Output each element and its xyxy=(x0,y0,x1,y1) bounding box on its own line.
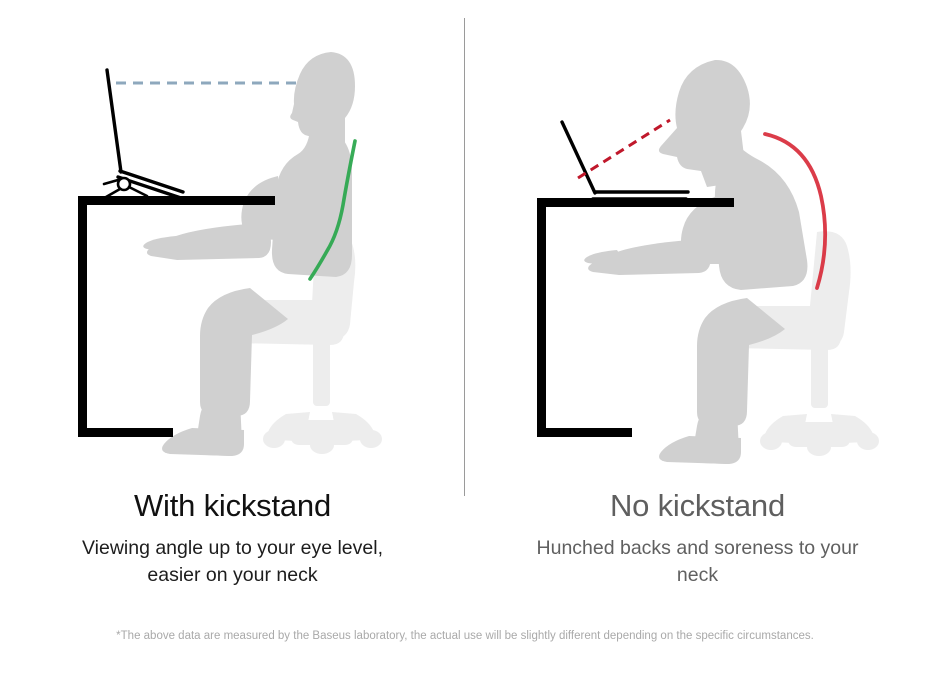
caption-subtitle-with-kickstand: Viewing angle up to your eye level, easi… xyxy=(68,535,398,589)
laptop-flat-on-desk xyxy=(562,122,688,199)
panel-divider xyxy=(464,18,465,496)
caption-title-with-kickstand: With kickstand xyxy=(0,486,465,526)
caption-with-kickstand: With kickstand Viewing angle up to your … xyxy=(0,486,465,589)
kickstand-mechanism xyxy=(104,178,147,197)
downward-sight-line xyxy=(578,120,670,178)
illustration-no-kickstand xyxy=(465,0,930,470)
panel-no-kickstand: No kickstand Hunched backs and soreness … xyxy=(465,0,930,699)
footnote-disclaimer: *The above data are measured by the Base… xyxy=(0,628,930,644)
ergonomics-comparison-infographic: With kickstand Viewing angle up to your … xyxy=(0,0,930,699)
caption-subtitle-no-kickstand: Hunched backs and soreness to your neck xyxy=(533,535,863,589)
person-silhouette-hunched xyxy=(584,60,807,464)
caption-title-no-kickstand: No kickstand xyxy=(465,486,930,526)
caption-no-kickstand: No kickstand Hunched backs and soreness … xyxy=(465,486,930,589)
panel-with-kickstand: With kickstand Viewing angle up to your … xyxy=(0,0,465,699)
illustration-with-kickstand xyxy=(0,0,465,470)
